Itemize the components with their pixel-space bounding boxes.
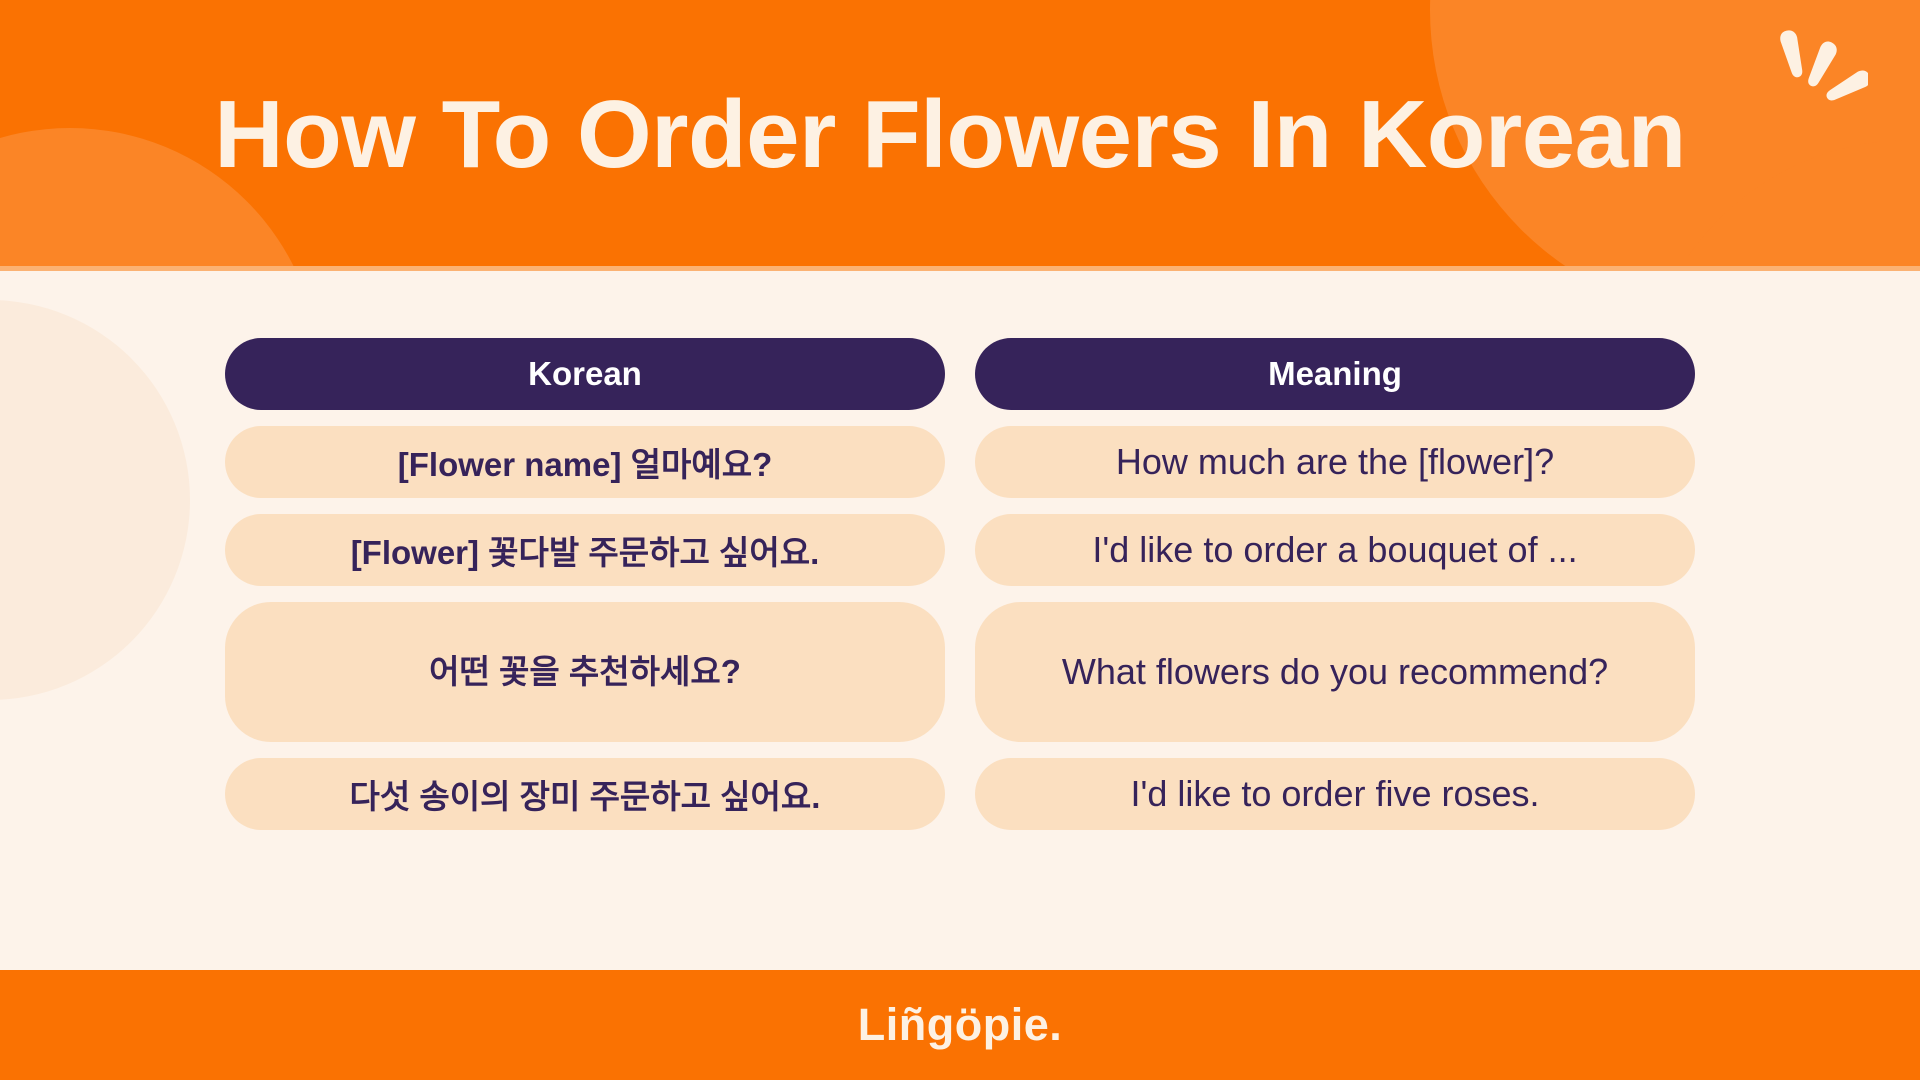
table-header-row: Korean Meaning xyxy=(225,338,1695,410)
spark-burst-icon xyxy=(1772,24,1868,120)
column-header-meaning: Meaning xyxy=(975,338,1695,410)
table-row: 다섯 송이의 장미 주문하고 싶어요. I'd like to order fi… xyxy=(225,758,1695,830)
cell-meaning: How much are the [flower]? xyxy=(975,426,1695,498)
cell-korean: [Flower name] 얼마예요? xyxy=(225,426,945,498)
brand-logo: Liñgöpie. xyxy=(858,999,1062,1051)
footer-banner: Liñgöpie. xyxy=(0,970,1920,1080)
cell-korean: 다섯 송이의 장미 주문하고 싶어요. xyxy=(225,758,945,830)
header-divider xyxy=(0,266,1920,271)
cell-korean: 어떤 꽃을 추천하세요? xyxy=(225,602,945,742)
cell-meaning: I'd like to order a bouquet of ... xyxy=(975,514,1695,586)
cell-korean: [Flower] 꽃다발 주문하고 싶어요. xyxy=(225,514,945,586)
cell-meaning: I'd like to order five roses. xyxy=(975,758,1695,830)
table-row: [Flower name] 얼마예요? How much are the [fl… xyxy=(225,426,1695,498)
header-banner: How To Order Flowers In Korean xyxy=(0,0,1920,270)
page-title: How To Order Flowers In Korean xyxy=(0,0,1920,270)
table-row: 어떤 꽃을 추천하세요? What flowers do you recomme… xyxy=(225,602,1695,742)
cell-meaning: What flowers do you recommend? xyxy=(975,602,1695,742)
table-row: [Flower] 꽃다발 주문하고 싶어요. I'd like to order… xyxy=(225,514,1695,586)
column-header-korean: Korean xyxy=(225,338,945,410)
phrase-table: Korean Meaning [Flower name] 얼마예요? How m… xyxy=(0,270,1920,970)
